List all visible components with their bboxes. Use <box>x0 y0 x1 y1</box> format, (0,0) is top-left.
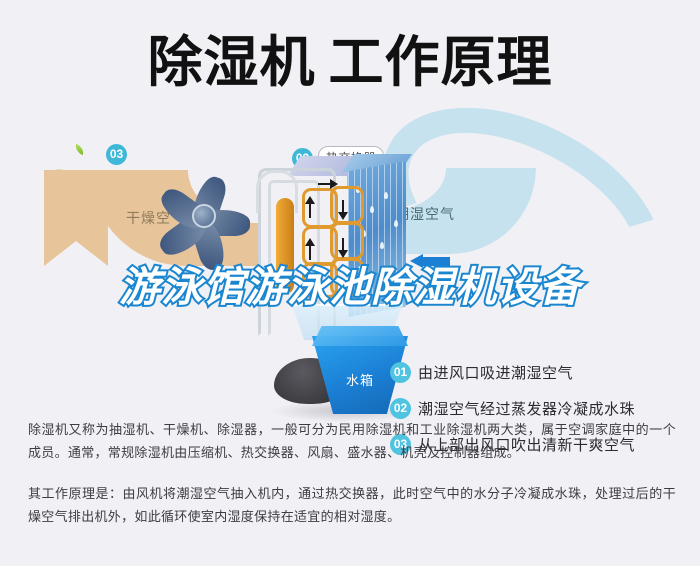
flow-arrow-down-icon <box>338 212 348 220</box>
flow-arrow-up-icon <box>305 272 315 280</box>
water-droplet-icon <box>386 276 390 283</box>
step-text-02: 潮湿空气经过蒸发器冷凝成水珠 <box>418 398 635 419</box>
page-title: 除湿机工作原理 <box>0 26 700 106</box>
page-title-text: 除湿机工作原理 <box>147 26 552 98</box>
compressor-cylinder <box>276 198 294 294</box>
page-title-part1: 除湿机 <box>147 31 315 93</box>
step-badge-01: 01 <box>390 362 411 383</box>
coil-loop <box>330 258 364 296</box>
step-text-01: 由进风口吸进潮湿空气 <box>418 362 573 383</box>
leaf-icon <box>73 144 86 156</box>
flow-arrow-stem <box>309 246 311 260</box>
flow-arrow-stem <box>318 183 330 185</box>
water-droplet-icon <box>380 242 384 249</box>
flow-arrow-stem <box>309 280 311 294</box>
inlet-arrow-tip <box>410 254 423 268</box>
body-paragraph-1: 除湿机又称为抽湿机、干燥机、除湿器，一般可分为民用除湿机和工业除湿机两大类，属于… <box>28 418 676 464</box>
water-tank-lid <box>312 326 408 346</box>
step-badge-02: 02 <box>390 398 411 419</box>
inlet-arrow-stem <box>422 257 450 266</box>
dry-air-arrow-head <box>44 170 108 266</box>
body-copy: 除湿机又称为抽湿机、干燥机、除湿器，一般可分为民用除湿机和工业除湿机两大类，属于… <box>28 418 676 536</box>
fan-hub <box>192 204 216 228</box>
flow-arrow-right-icon <box>330 179 338 189</box>
water-droplet-icon <box>370 206 374 213</box>
water-droplet-icon <box>394 220 398 227</box>
water-droplet-icon <box>384 192 388 199</box>
page-title-part2: 工作原理 <box>329 31 553 93</box>
flow-arrow-up-icon <box>305 196 315 204</box>
principle-illustration: 干燥空气 03 潮湿空气 01 02 热交换器 <box>0 108 700 408</box>
flow-arrow-up-icon <box>305 238 315 246</box>
list-item: 01 由进风口吸进潮湿空气 <box>390 354 690 390</box>
air-inlet-arrow <box>410 254 450 268</box>
flow-arrow-stem <box>309 204 311 218</box>
fan-illustration <box>154 166 262 272</box>
page-root: 除湿机工作原理 干燥空气 03 潮湿空气 01 02 热交换器 <box>0 0 700 566</box>
body-paragraph-2: 其工作原理是：由风机将潮湿空气抽入机内，通过热交换器，此时空气中的水分子冷凝成水… <box>28 482 676 528</box>
flow-arrow-down-icon <box>338 250 348 258</box>
badge-03-dry-air: 03 <box>106 144 127 165</box>
